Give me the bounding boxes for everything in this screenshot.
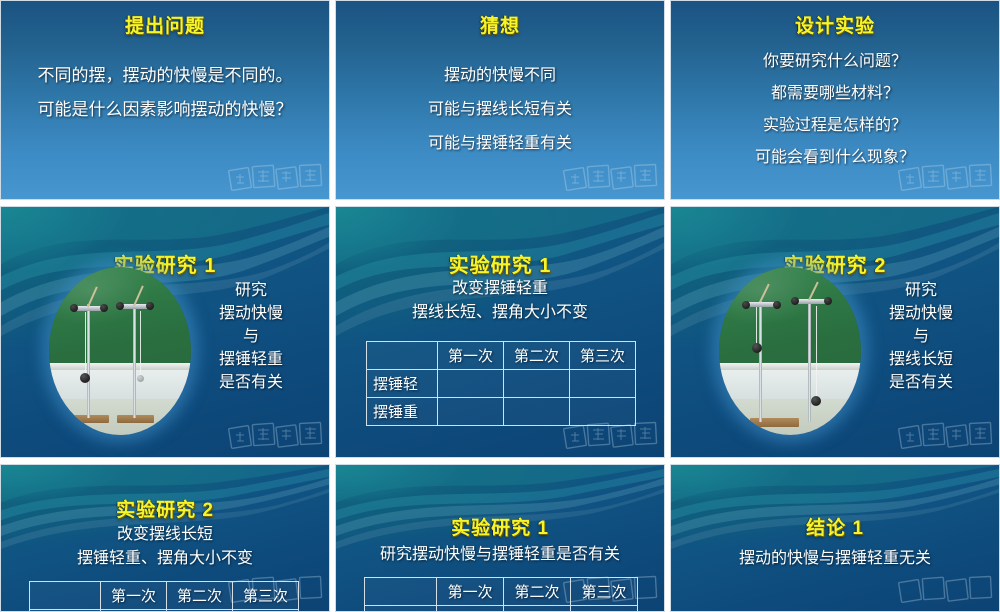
table-cell	[504, 606, 571, 612]
table-col-header: 第一次	[437, 578, 504, 606]
table-col-header: 第一次	[438, 342, 504, 370]
table-col-header: 第二次	[504, 342, 570, 370]
watermark-logo-icon	[227, 569, 323, 607]
subtitle-line: 摆锤轻重、摆角大小不变	[1, 547, 329, 571]
watermark-logo-icon	[562, 157, 658, 195]
caption-line: 与	[187, 325, 315, 348]
slide-title: 结论 1	[671, 513, 999, 540]
stand-rod-left	[759, 301, 762, 422]
slide-subtitle: 研究摆动快慢与摆锤轻重是否有关	[336, 543, 664, 567]
slide-title: 实验研究 1	[336, 249, 664, 278]
watermark-logo-icon	[897, 157, 993, 195]
chalk-rail	[49, 363, 191, 371]
table-cell	[438, 398, 504, 426]
body-line: 你要研究什么问题？	[671, 46, 999, 78]
body-line: 不同的摆，摆动的快慢是不同的。	[1, 59, 329, 93]
slide-thumbnail-grid: 提出问题 不同的摆，摆动的快慢是不同的。 可能是什么因素影响摆动的快慢？	[0, 0, 1000, 600]
slide-thumbnail-6[interactable]: 实验研究 2	[670, 206, 1000, 458]
slide-subtitle: 改变摆线长短 摆锤轻重、摆角大小不变	[1, 523, 329, 571]
table-col-header: 第二次	[167, 582, 233, 610]
slide-caption: 研究 摆动快慢 与 摆线长短 是否有关	[857, 279, 985, 394]
subtitle-line: 改变摆锤轻重	[336, 277, 664, 301]
table-header-row: 第一次 第二次 第三次	[367, 342, 636, 370]
subtitle-line: 研究摆动快慢与摆锤轻重是否有关	[336, 543, 664, 567]
watermark-logo-icon	[897, 569, 993, 607]
body-line: 可能是什么因素影响摆动的快慢？	[1, 93, 329, 127]
pendulum-bob-short	[752, 343, 762, 353]
wall-lower	[719, 399, 861, 435]
caption-line: 是否有关	[857, 371, 985, 394]
slide-title: 猜想	[336, 11, 664, 38]
slide-thumbnail-2[interactable]: 猜想 摆动的快慢不同 可能与摆线长短有关 可能与摆锤轻重有关	[335, 0, 665, 200]
chalk-rail	[719, 363, 861, 371]
table-row-header	[365, 606, 437, 612]
caption-line: 是否有关	[187, 371, 315, 394]
slide-subtitle: 改变摆锤轻重 摆线长短、摆角大小不变	[336, 277, 664, 325]
chalkboard	[719, 267, 861, 363]
subtitle-line: 摆动的快慢与摆锤轻重无关	[671, 547, 999, 571]
slide-thumbnail-3[interactable]: 设计实验 你要研究什么问题？ 都需要哪些材料？ 实验过程是怎样的？ 可能会看到什…	[670, 0, 1000, 200]
pendulum-bob-light	[137, 375, 144, 382]
table-cell	[438, 370, 504, 398]
table-cell	[504, 398, 570, 426]
table-col-header: 第二次	[504, 578, 571, 606]
table-corner-cell	[367, 342, 438, 370]
stand-rod-right	[133, 304, 136, 418]
stand-rod-left	[87, 304, 90, 418]
watermark-logo-icon	[562, 415, 658, 453]
pendulum-string-right	[140, 311, 141, 377]
subtitle-line: 摆线长短、摆角大小不变	[336, 301, 664, 325]
table-cell	[437, 606, 504, 612]
body-line: 摆动的快慢不同	[336, 59, 664, 93]
table-cell	[569, 370, 635, 398]
slide-thumbnail-9[interactable]: 结论 1 摆动的快慢与摆锤轻重无关	[670, 464, 1000, 612]
body-line: 可能与摆线长短有关	[336, 93, 664, 127]
watermark-logo-icon	[227, 415, 323, 453]
pendulum-string-long	[816, 306, 817, 398]
table-row: 摆锤轻	[367, 370, 636, 398]
subtitle-line: 改变摆线长短	[1, 523, 329, 547]
stand-base-left	[750, 418, 798, 426]
caption-line: 与	[857, 325, 985, 348]
clamp-knob	[742, 301, 750, 309]
slide-title: 设计实验	[671, 11, 999, 38]
slide-title: 实验研究 1	[336, 513, 664, 540]
pendulum-photo	[49, 267, 191, 435]
watermark-logo-icon	[897, 415, 993, 453]
pendulum-string-short	[756, 307, 757, 344]
slide-thumbnail-4[interactable]: 实验研究 1	[0, 206, 330, 458]
body-line: 都需要哪些材料？	[671, 78, 999, 110]
slide-caption: 研究 摆动快慢 与 摆锤轻重 是否有关	[187, 279, 315, 394]
caption-line: 摆线长短	[857, 348, 985, 371]
clamp-knob	[146, 302, 154, 310]
caption-line: 摆锤轻重	[187, 348, 315, 371]
table-cell	[504, 370, 570, 398]
experiment-table: 第一次 第二次 第三次 摆锤轻 摆锤重	[366, 341, 636, 426]
table-row-header: 摆锤重	[367, 398, 438, 426]
slide-body: 你要研究什么问题？ 都需要哪些材料？ 实验过程是怎样的？ 可能会看到什么现象？	[671, 46, 999, 174]
slide-thumbnail-1[interactable]: 提出问题 不同的摆，摆动的快慢是不同的。 可能是什么因素影响摆动的快慢？	[0, 0, 330, 200]
table-col-header: 第三次	[569, 342, 635, 370]
slide-title: 实验研究 2	[1, 495, 329, 522]
clamp-knob	[116, 302, 124, 310]
table-corner-cell	[30, 582, 101, 610]
wall-upper	[49, 370, 191, 399]
slide-subtitle: 摆动的快慢与摆锤轻重无关	[671, 547, 999, 571]
slide-body: 不同的摆，摆动的快慢是不同的。 可能是什么因素影响摆动的快慢？	[1, 59, 329, 127]
table-row-header: 摆锤轻	[367, 370, 438, 398]
caption-line: 摆动快慢	[857, 302, 985, 325]
wall-upper	[719, 370, 861, 399]
caption-line: 研究	[857, 279, 985, 302]
watermark-logo-icon	[227, 157, 323, 195]
caption-line: 研究	[187, 279, 315, 302]
body-line: 可能与摆锤轻重有关	[336, 127, 664, 161]
pendulum-photo	[719, 267, 861, 435]
caption-line: 摆动快慢	[187, 302, 315, 325]
chalkboard	[49, 267, 191, 363]
slide-thumbnail-5[interactable]: 实验研究 1 改变摆锤轻重 摆线长短、摆角大小不变 第一次 第二次 第三次 摆锤…	[335, 206, 665, 458]
slide-body: 摆动的快慢不同 可能与摆线长短有关 可能与摆锤轻重有关	[336, 59, 664, 161]
clamp-knob	[773, 301, 781, 309]
table-corner-cell	[365, 578, 437, 606]
slide-title: 提出问题	[1, 11, 329, 38]
body-line: 实验过程是怎样的？	[671, 110, 999, 142]
pendulum-string-left	[85, 312, 86, 374]
watermark-logo-icon	[562, 569, 658, 607]
slide-thumbnail-7[interactable]: 实验研究 2 改变摆线长短 摆锤轻重、摆角大小不变 第一次 第二次 第三次	[0, 464, 330, 612]
table-col-header: 第一次	[101, 582, 167, 610]
slide-thumbnail-8[interactable]: 实验研究 1 研究摆动快慢与摆锤轻重是否有关 第一次 第二次 第三次	[335, 464, 665, 612]
